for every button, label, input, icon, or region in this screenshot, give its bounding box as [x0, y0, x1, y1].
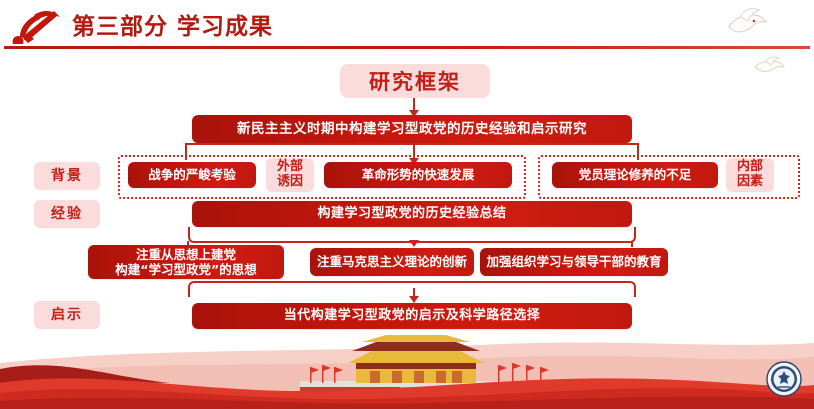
- tag-internal-factor-line2: 因素: [737, 175, 763, 190]
- slide-header: 第三部分 学习成果: [0, 0, 814, 48]
- row-label-experience: 经验: [34, 200, 100, 228]
- node-ideological-line1: 注重从思想上建党: [136, 247, 236, 262]
- tag-internal-factor: 内部 因素: [726, 158, 774, 192]
- row-label-background: 背景: [34, 162, 100, 190]
- node-war-test: 战争的严峻考验: [128, 162, 256, 188]
- circular-emblem-badge-icon: [766, 361, 802, 397]
- arrow-to-enlightenment: [409, 296, 419, 303]
- footer-decoration: [0, 329, 814, 409]
- node-member-theory-insufficiency: 党员理论修养的不足: [552, 162, 718, 188]
- node-experience-summary: 构建学习型政党的历史经验总结: [192, 201, 632, 227]
- dove-icon: [723, 6, 769, 40]
- header-divider: [4, 46, 810, 49]
- root-node: 新民主主义时期中构建学习型政党的历史经验和启示研究: [192, 115, 632, 143]
- connector-root-span: [185, 143, 639, 145]
- row-label-enlightenment: 启示: [34, 301, 100, 329]
- tag-external-cause-line2: 诱因: [277, 175, 303, 190]
- slide-root: 第三部分 学习成果 研究框架 新民主主义时期中构建学习型政党的历史经验和启示研究…: [0, 0, 814, 409]
- connector-exp-item3: [631, 241, 633, 247]
- tag-external-cause: 外部 诱因: [266, 158, 314, 192]
- tag-external-cause-line1: 外部: [277, 160, 303, 175]
- node-organizational-learning: 加强组织学习与领导干部的教育: [480, 248, 668, 276]
- node-marxist-theory-innovation: 注重马克思主义理论的创新: [310, 248, 474, 276]
- node-ideological-line2: 构建“学习型政党”的思想: [115, 262, 256, 277]
- tiananmen-gate-icon: [0, 329, 814, 409]
- page-title: 第三部分 学习成果: [72, 7, 273, 41]
- chart-title: 研究框架: [340, 64, 490, 98]
- dove-icon-small: [752, 55, 786, 75]
- node-revolution-development: 革命形势的快速发展: [324, 162, 512, 188]
- node-enlightenment-summary: 当代构建学习型政党的启示及科学路径选择: [192, 303, 632, 329]
- arrow-experience-to-items: [409, 240, 419, 247]
- tag-internal-factor-line1: 内部: [737, 160, 763, 175]
- hammer-and-sickle-icon: [10, 6, 68, 44]
- connector-items-bracket: [188, 281, 636, 297]
- node-ideological-party-building: 注重从思想上建党 构建“学习型政党”的思想: [88, 245, 284, 279]
